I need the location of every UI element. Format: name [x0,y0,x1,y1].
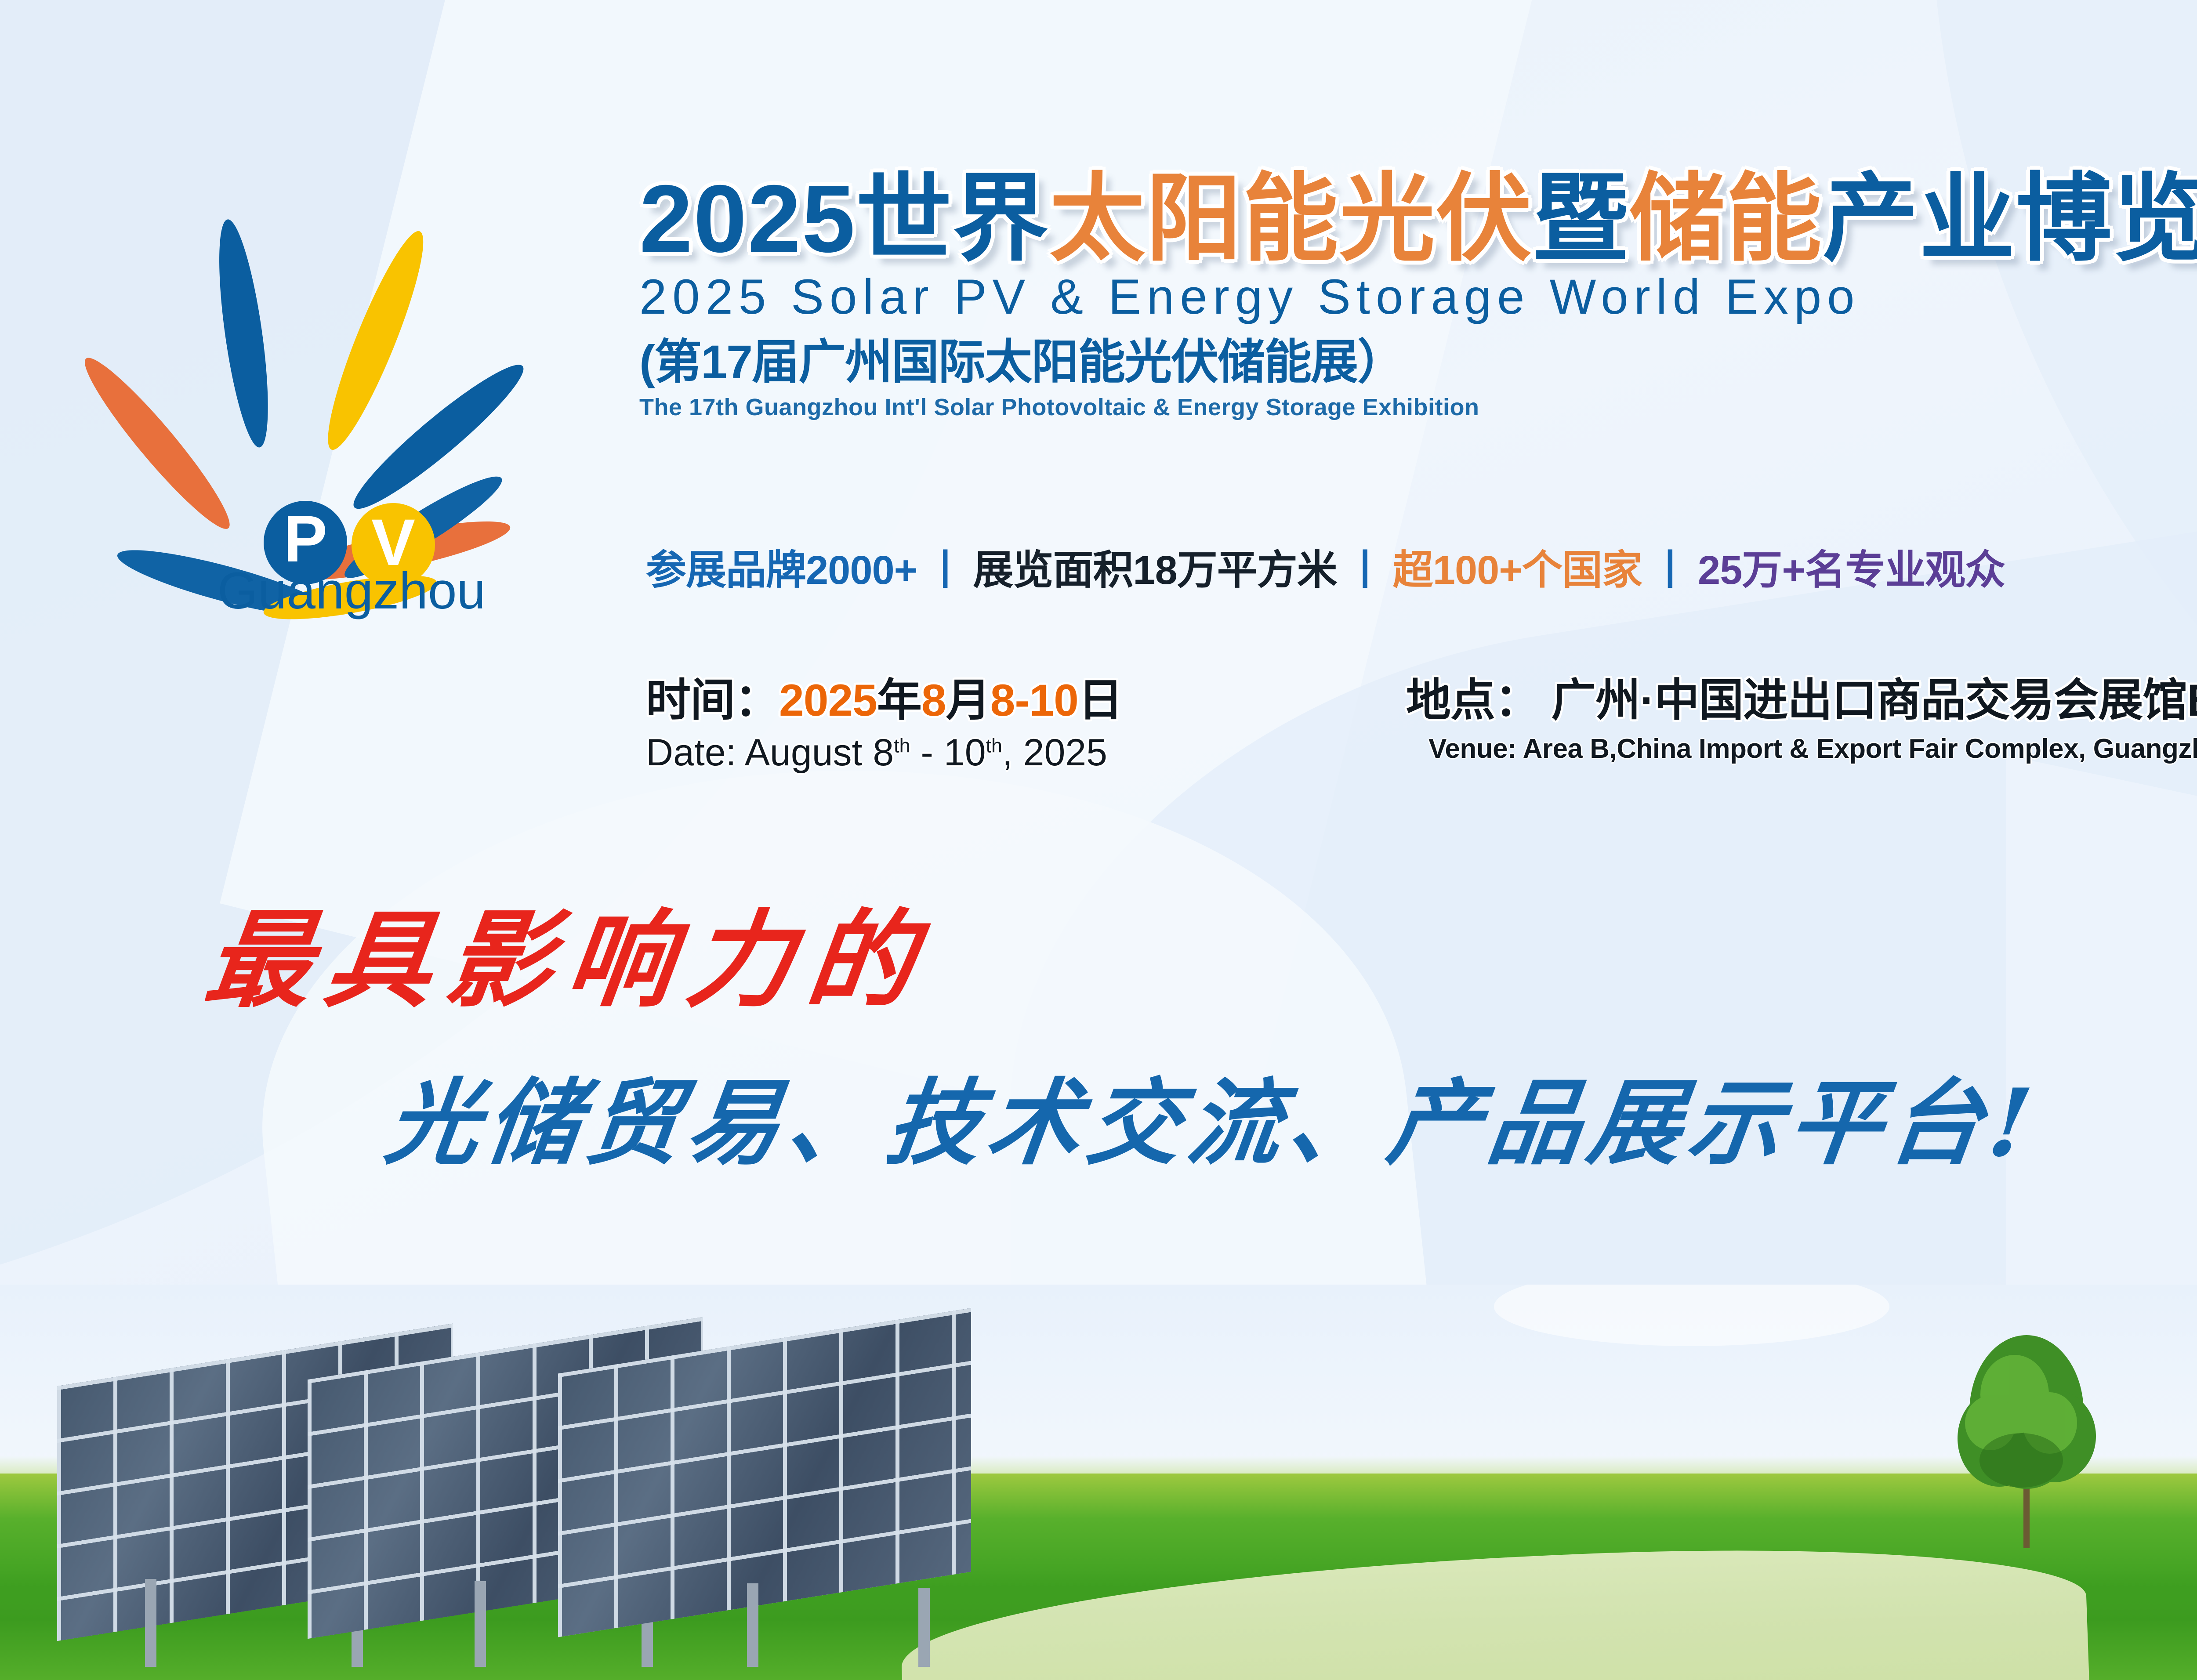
event-venue-block: 地点： 广州·中国进出口商品交易会展馆B区 Venue: Area B,Chin… [1406,677,2197,763]
title-part-2: 暨 [1533,166,1629,272]
stats-row: 参展品牌2000+丨展览面积18万平方米丨超100+个国家丨25万+名专业观众 [646,550,2005,590]
logo-city-label: Guangzhou [218,562,486,620]
stat-separator-1: 丨 [917,548,973,593]
stat-separator-3: 丨 [1642,548,1698,593]
title-part-3: 储能 [1629,166,1823,272]
stat-item-brands: 参展品牌2000+ [646,548,917,593]
date-en-mid: - 10 [910,731,986,774]
tree-left [1933,1329,2122,1548]
main-title-cn: 2025世界太阳能光伏暨储能产业博览会 [639,170,2197,268]
title-part-1: 太阳能光伏 [1049,166,1533,272]
subtitle-en: The 17th Guangzhou Int'l Solar Photovolt… [639,395,2197,419]
date-year-char: 年 [877,675,921,725]
date-month-number: 8 [921,675,946,725]
date-en-suffix: , 2025 [1002,731,1107,774]
stat-item-area: 展览面积18万平方米 [973,548,1337,593]
title-part-4: 产业博览会 [1823,166,2197,272]
subtitle-cn: (第17届广州国际太阳能光伏储能展） [639,338,2197,386]
event-venue-en: Venue: Area B,China Import & Export Fair… [1406,735,2197,763]
pv-guangzhou-logo: P V Guangzhou [66,176,584,624]
solar-panel-pole-3 [747,1583,758,1667]
solar-panel-pole-3b [918,1588,930,1667]
stat-item-visitors: 25万+名专业观众 [1698,548,2005,593]
date-day-char: 日 [1078,675,1123,725]
date-en-prefix: Date: August 8 [646,731,894,774]
event-venue-cn: 地点： 广州·中国进出口商品交易会展馆B区 [1406,677,2197,724]
event-date-cn: 时间：2025年8月8-10日 [646,677,1123,724]
solar-panel-pole-1 [145,1579,156,1667]
bottom-scene [0,1285,2197,1680]
header-block: 2025世界太阳能光伏暨储能产业博览会 2025 Solar PV & Ener… [639,170,2197,419]
date-day-range: 8-10 [990,675,1078,725]
event-date-en: Date: August 8th - 10th, 2025 [646,734,1123,771]
date-label-cn: 时间： [646,675,779,725]
date-en-ordinal-1: th [894,735,910,757]
solar-panel-pole-2 [475,1581,486,1667]
event-date-block: 时间：2025年8月8-10日 Date: August 8th - 10th,… [646,677,1123,771]
slogan-line-2: 光储贸易、技术交流、产品展示平台! [381,1076,2043,1169]
stat-separator-2: 丨 [1337,548,1393,593]
title-part-0: 2025世界 [639,166,1049,272]
date-en-ordinal-2: th [986,735,1002,757]
main-title-en: 2025 Solar PV & Energy Storage World Exp… [639,272,2197,322]
stat-item-countries: 超100+个国家 [1393,548,1642,593]
date-month-char: 月 [946,675,990,725]
date-year-number: 2025 [779,675,877,725]
slogan-line-1: 最具影响力的 [200,907,935,1013]
promo-banner: P V Guangzhou 2025世界太阳能光伏暨储能产业博览会 2025 S… [0,0,2197,1680]
